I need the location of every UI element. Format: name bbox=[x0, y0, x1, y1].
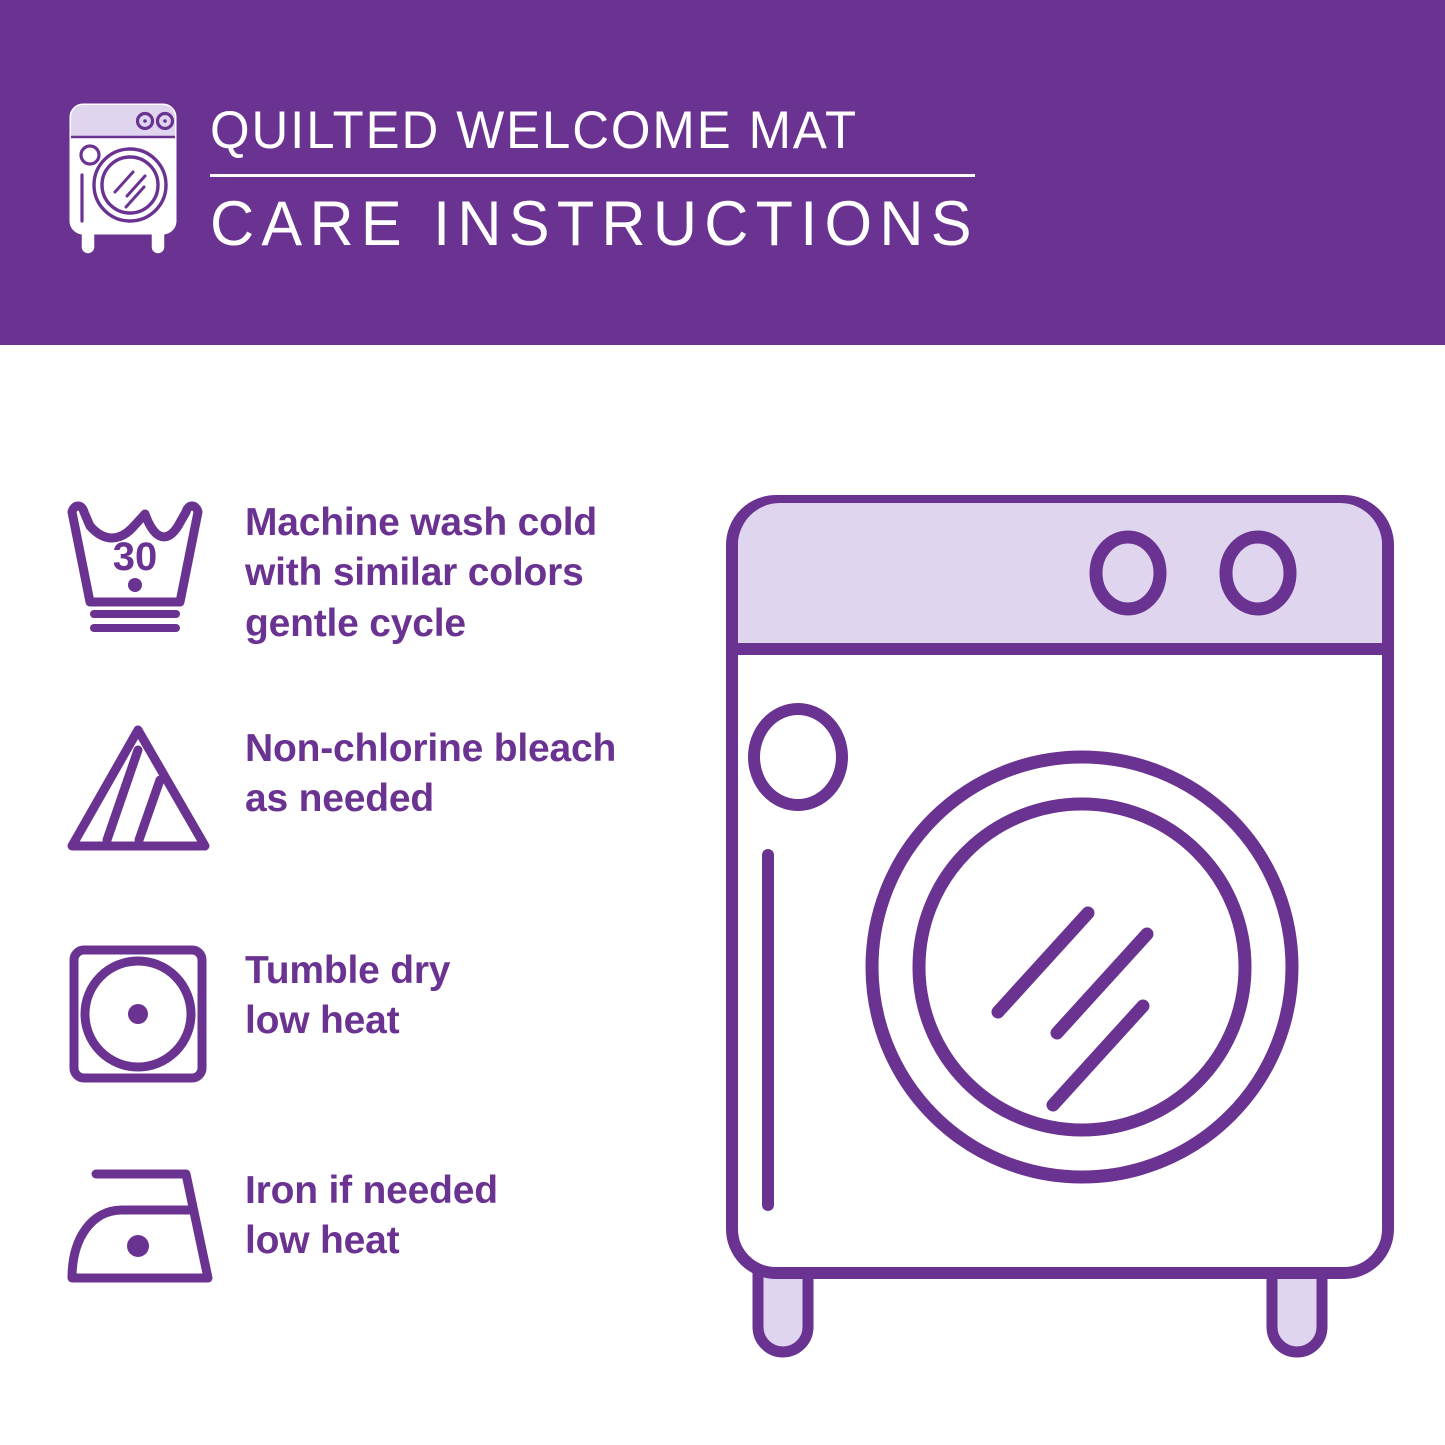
instruction-text-tumble-dry: Tumble dry low heat bbox=[245, 940, 450, 1047]
instruction-row-iron: Iron if needed low heat bbox=[60, 1160, 700, 1305]
instruction-line: gentle cycle bbox=[245, 599, 597, 649]
title-divider bbox=[210, 174, 975, 177]
instruction-line: with similar colors bbox=[245, 548, 597, 598]
care-instructions-page: QUILTED WELCOME MAT CARE INSTRUCTIONS 30… bbox=[0, 0, 1445, 1445]
wash-tub-30-gentle-icon: 30 bbox=[60, 492, 245, 637]
instruction-row-tumble-dry: Tumble dry low heat bbox=[60, 940, 700, 1085]
page-title-primary: QUILTED WELCOME MAT bbox=[210, 104, 959, 157]
instruction-text-bleach: Non-chlorine bleach as needed bbox=[245, 718, 616, 825]
instruction-row-bleach: Non-chlorine bleach as needed bbox=[60, 718, 700, 863]
non-chlorine-bleach-triangle-icon bbox=[60, 718, 245, 863]
instruction-line: Non-chlorine bleach bbox=[245, 724, 616, 774]
header-banner: QUILTED WELCOME MAT CARE INSTRUCTIONS bbox=[0, 0, 1445, 345]
instruction-line: as needed bbox=[245, 774, 616, 824]
header-title-group: QUILTED WELCOME MAT CARE INSTRUCTIONS bbox=[210, 104, 990, 256]
instruction-line: Iron if needed bbox=[245, 1166, 498, 1216]
instruction-line: low heat bbox=[245, 1216, 498, 1266]
instruction-row-wash: 30 Machine wash cold with similar colors… bbox=[60, 492, 700, 649]
instruction-line: low heat bbox=[245, 996, 450, 1046]
control-knob-right bbox=[1226, 537, 1290, 609]
instruction-text-wash: Machine wash cold with similar colors ge… bbox=[245, 492, 597, 649]
control-knob-left bbox=[1096, 537, 1160, 609]
tumble-dry-low-heat-icon bbox=[60, 940, 245, 1085]
iron-low-heat-icon bbox=[60, 1160, 245, 1305]
washing-machine-icon bbox=[63, 97, 183, 257]
instruction-line: Machine wash cold bbox=[245, 498, 597, 548]
instruction-line: Tumble dry bbox=[245, 946, 450, 996]
page-title-secondary: CARE INSTRUCTIONS bbox=[210, 193, 967, 256]
wash-temperature-value: 30 bbox=[113, 535, 158, 579]
instruction-text-iron: Iron if needed low heat bbox=[245, 1160, 498, 1267]
washing-machine-illustration bbox=[700, 465, 1420, 1385]
